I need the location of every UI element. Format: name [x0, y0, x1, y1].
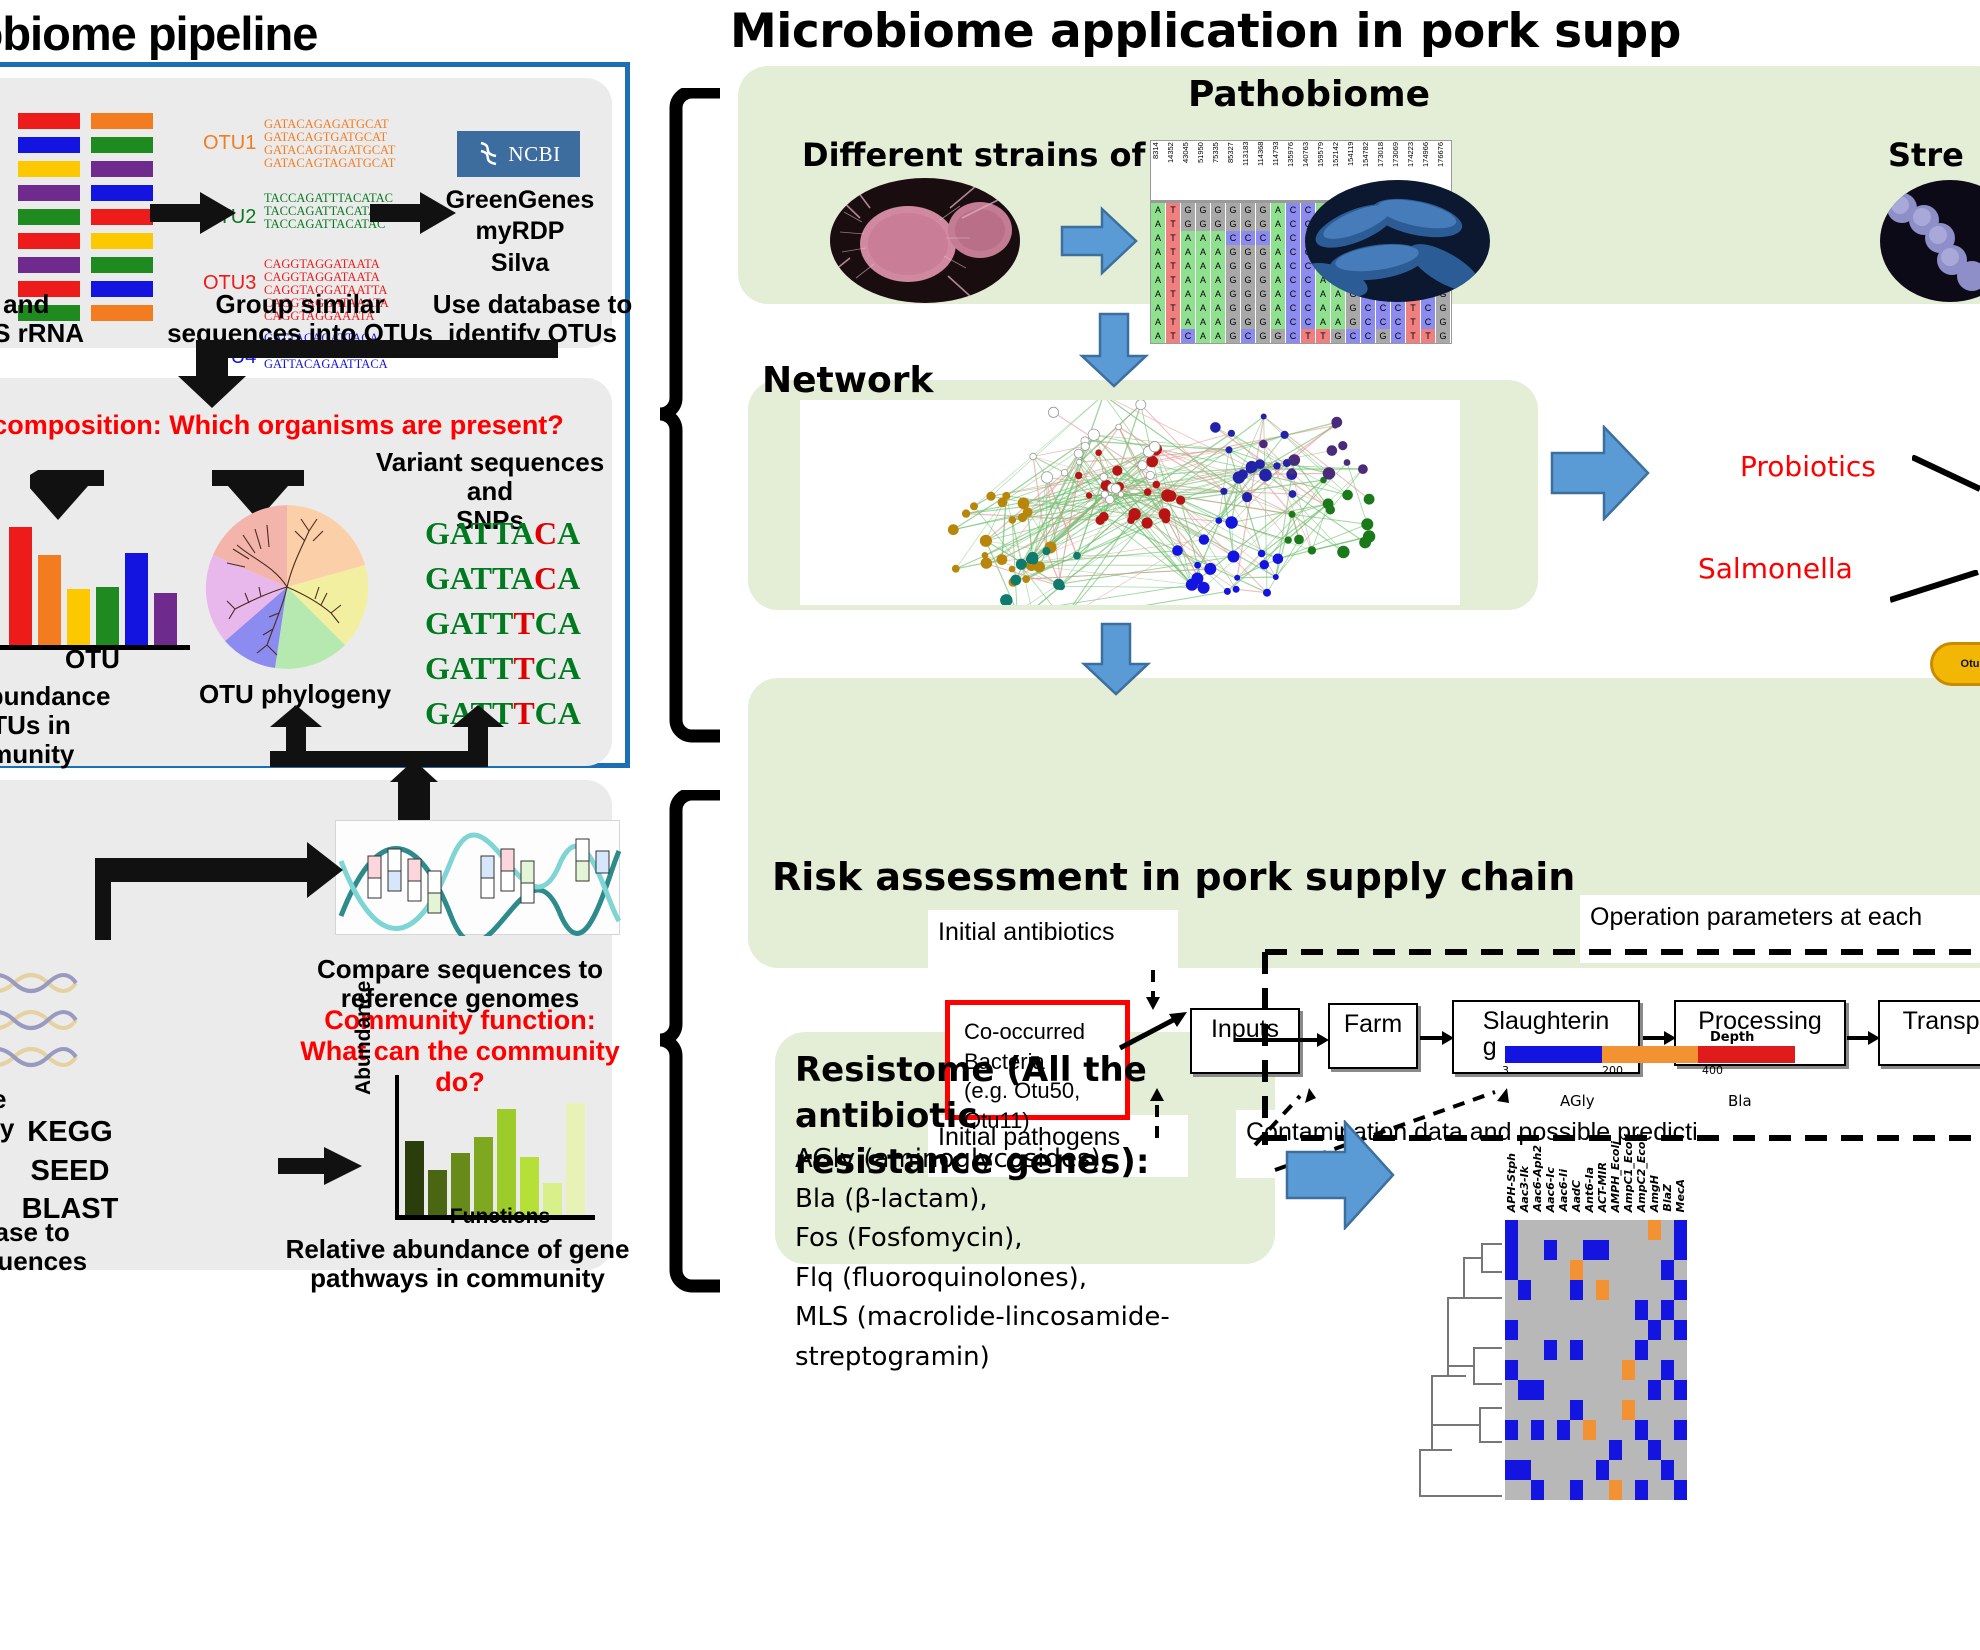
database-myrdp: myRDP	[440, 216, 600, 247]
snp-cell: T	[1316, 329, 1331, 343]
heatmap-cell	[1648, 1320, 1661, 1340]
color-bar	[18, 113, 80, 129]
gene-label: AMPH_Ecoli	[1609, 1141, 1622, 1212]
ecoli-image	[1305, 180, 1490, 302]
heatmap-cell	[1505, 1320, 1518, 1340]
risk-header: Risk assessment in pork supply chain	[772, 855, 1575, 899]
snp-cell: C	[1301, 315, 1316, 329]
snp-cell: C	[1361, 315, 1376, 329]
snp-cell: A	[1211, 287, 1226, 301]
salmonella-connector	[1890, 570, 1980, 610]
snp-cell: A	[1211, 259, 1226, 273]
heatmap-cell	[1622, 1320, 1635, 1340]
heatmap-cell	[1570, 1420, 1583, 1440]
ncbi-helix-icon	[476, 139, 502, 169]
heatmap-cell	[1570, 1360, 1583, 1380]
heatmap-cell	[1622, 1340, 1635, 1360]
heatmap-cell	[1557, 1400, 1570, 1420]
snp-cell: G	[1331, 329, 1346, 343]
snp-cell: G	[1256, 301, 1271, 315]
heatmap-cell	[1648, 1420, 1661, 1440]
heatmap-cell	[1583, 1320, 1596, 1340]
snp-cell: G	[1241, 315, 1256, 329]
heatmap-cell	[1596, 1460, 1609, 1480]
heatmap-cell	[1674, 1400, 1687, 1420]
snp-cell: G	[1256, 259, 1271, 273]
gene-label: Aac6-Ii	[1557, 1169, 1570, 1212]
heatmap-cell	[1609, 1420, 1622, 1440]
snp-cell: T	[1166, 287, 1181, 301]
snp-cell: A	[1151, 217, 1166, 231]
heatmap-cell	[1531, 1420, 1544, 1440]
snp-cell: G	[1256, 245, 1271, 259]
snp-cell: C	[1286, 287, 1301, 301]
snp-cell: C	[1376, 315, 1391, 329]
snp-cell: A	[1196, 329, 1211, 343]
heatmap-colorbar	[1505, 1046, 1795, 1063]
heatmap-cell	[1544, 1220, 1557, 1240]
gene-label: BlaZ	[1661, 1184, 1674, 1212]
snp-cell: T	[1166, 245, 1181, 259]
heatmap-cell	[1544, 1240, 1557, 1260]
heatmap-cell	[1557, 1320, 1570, 1340]
heatmap-cell	[1674, 1340, 1687, 1360]
snp-cell: C	[1286, 329, 1301, 343]
snp-cell: A	[1151, 273, 1166, 287]
heatmap-cell	[1557, 1380, 1570, 1400]
snp-cell: A	[1271, 231, 1286, 245]
heatmap-cell	[1570, 1340, 1583, 1360]
variant-sequence: GATTACA	[425, 515, 580, 552]
heatmap-cell	[1583, 1380, 1596, 1400]
heatmap-cell	[1622, 1380, 1635, 1400]
heatmap-cell	[1635, 1460, 1648, 1480]
abundance-bar	[67, 589, 90, 645]
snp-cell: T	[1166, 329, 1181, 343]
snp-cell: A	[1151, 231, 1166, 245]
heatmap-cell	[1596, 1420, 1609, 1440]
heatmap-cell	[1544, 1440, 1557, 1460]
snp-base: GATTA	[425, 515, 534, 551]
snp-cell: A	[1211, 231, 1226, 245]
heatmap-cell	[1583, 1400, 1596, 1420]
dna-strands-icon	[0, 965, 80, 1070]
heatmap-cell	[1531, 1220, 1544, 1240]
heatmap-legend-ticks: 3200400	[1502, 1064, 1802, 1077]
network-header: Network	[762, 360, 933, 401]
snp-variant-base: C	[534, 515, 557, 551]
snp-cell: G	[1211, 203, 1226, 217]
resistome-heatmap: Depth 3200400 AGly Bla APH-StphAac3-IkAa…	[1410, 1030, 1980, 1650]
heatmap-cell	[1583, 1360, 1596, 1380]
color-bar	[91, 137, 153, 153]
db-identify-caption: Use database to identify sequences	[0, 1218, 135, 1276]
ncbi-text: NCBI	[508, 142, 560, 167]
arrow-elbow-right	[95, 840, 345, 940]
heatmap-cell	[1531, 1340, 1544, 1360]
heatmap-cell	[1518, 1260, 1531, 1280]
heatmap-cell	[1661, 1220, 1674, 1240]
heatmap-cell	[1596, 1320, 1609, 1340]
heatmap-cell	[1674, 1440, 1687, 1460]
color-bar	[91, 209, 153, 225]
snp-cell: A	[1151, 329, 1166, 343]
snp-cell: G	[1346, 315, 1361, 329]
snp-cell: A	[1211, 315, 1226, 329]
snp-cell: T	[1301, 329, 1316, 343]
heatmap-cell	[1609, 1380, 1622, 1400]
heatmap-cell	[1518, 1400, 1531, 1420]
snp-cell: C	[1286, 217, 1301, 231]
heatmap-cell	[1557, 1280, 1570, 1300]
snp-column-position: 114793	[1271, 141, 1286, 200]
seed-label: SEED	[0, 1152, 180, 1191]
color-bar	[18, 137, 80, 153]
heatmap-cell	[1609, 1340, 1622, 1360]
heatmap-cell	[1661, 1400, 1674, 1420]
snp-cell: G	[1241, 259, 1256, 273]
gene-pathways-caption: Relative abundance of gene pathways in c…	[285, 1235, 630, 1293]
abundance-bar	[154, 593, 177, 645]
snp-cell: A	[1181, 231, 1196, 245]
heatmap-cell	[1674, 1380, 1687, 1400]
snp-cell: C	[1286, 245, 1301, 259]
snp-cell: T	[1406, 329, 1421, 343]
colorbar-segment	[1698, 1046, 1795, 1063]
heatmap-cell	[1622, 1240, 1635, 1260]
heatmap-cell	[1635, 1280, 1648, 1300]
database-silva: Silva	[440, 248, 600, 279]
gene-label: MecA	[1674, 1179, 1687, 1212]
heatmap-cell	[1583, 1260, 1596, 1280]
heatmap-cell	[1674, 1420, 1687, 1440]
heatmap-cell	[1661, 1360, 1674, 1380]
snp-cell: T	[1166, 301, 1181, 315]
snp-cell: G	[1226, 329, 1241, 343]
snp-column-position: 85327	[1226, 141, 1241, 200]
snp-row: ATCAAGCGGCTTGCCGCTTG	[1151, 329, 1451, 343]
snp-cell: G	[1226, 245, 1241, 259]
heatmap-cell	[1622, 1400, 1635, 1420]
arrow-right-1	[150, 190, 240, 236]
heatmap-cell	[1505, 1440, 1518, 1460]
snp-cell: G	[1256, 273, 1271, 287]
heatmap-cell	[1557, 1460, 1570, 1480]
phylogeny-circle	[205, 505, 370, 670]
heatmap-cell	[1609, 1360, 1622, 1380]
snp-cell: A	[1271, 287, 1286, 301]
snp-variant-base: T	[513, 695, 534, 731]
heatmap-cell	[1570, 1260, 1583, 1280]
heatmap-cell	[1635, 1320, 1648, 1340]
resistome-item: Flq (fluoroquinolones),	[795, 1259, 1315, 1299]
blue-arrow-to-heatmap	[1285, 1120, 1395, 1230]
snp-variant-base: T	[513, 605, 534, 641]
gene-label: AmpC2_Ecoli	[1635, 1134, 1648, 1212]
snp-cell: A	[1211, 273, 1226, 287]
snp-cell: G	[1241, 217, 1256, 231]
snp-column-position: 114368	[1256, 141, 1271, 200]
snp-cell: A	[1271, 245, 1286, 259]
heatmap-cell	[1505, 1280, 1518, 1300]
heatmap-cell	[1518, 1360, 1531, 1380]
heatmap-cell	[1557, 1440, 1570, 1460]
snp-base: A	[557, 515, 580, 551]
snp-cell: C	[1241, 231, 1256, 245]
heatmap-group-bla: Bla	[1728, 1092, 1752, 1110]
ncbi-logo-top: NCBI	[457, 131, 580, 177]
heatmap-cell	[1531, 1400, 1544, 1420]
heatmap-cell	[1570, 1400, 1583, 1420]
heatmap-cell	[1570, 1480, 1583, 1500]
otu-label: OTU1	[203, 132, 256, 155]
heatmap-cell	[1557, 1420, 1570, 1440]
heatmap-cell	[1518, 1420, 1531, 1440]
snp-cell: A	[1151, 301, 1166, 315]
arrow-up-center	[390, 760, 438, 822]
gene-label: AadC	[1570, 1180, 1583, 1212]
snp-variant-base: C	[534, 560, 557, 596]
snp-cell: G	[1241, 273, 1256, 287]
snp-cell: A	[1316, 315, 1331, 329]
snp-column-position: 113183	[1241, 141, 1256, 200]
heatmap-cell	[1557, 1340, 1570, 1360]
snp-cell: T	[1406, 301, 1421, 315]
heatmap-cell	[1635, 1440, 1648, 1460]
heatmap-cell	[1596, 1400, 1609, 1420]
heatmap-cell	[1648, 1260, 1661, 1280]
snp-base: GATT	[425, 650, 513, 686]
snp-cell: C	[1286, 231, 1301, 245]
arrow-merge-up	[262, 705, 512, 770]
heatmap-cell	[1518, 1220, 1531, 1240]
heatmap-cell	[1674, 1320, 1687, 1340]
snp-cell: G	[1376, 329, 1391, 343]
heatmap-cell	[1648, 1360, 1661, 1380]
heatmap-cell	[1505, 1340, 1518, 1360]
abundance-bar	[38, 555, 61, 645]
resistome-item: AGly (aminoglycosides),	[795, 1140, 1315, 1180]
functions-bar-chart	[395, 1075, 595, 1220]
heatmap-cell	[1609, 1300, 1622, 1320]
color-bar	[18, 257, 80, 273]
snp-cell: C	[1226, 231, 1241, 245]
heatmap-cell	[1622, 1300, 1635, 1320]
heatmap-cell	[1505, 1380, 1518, 1400]
color-bar	[91, 113, 153, 129]
snp-cell: A	[1196, 287, 1211, 301]
heatmap-cell	[1557, 1260, 1570, 1280]
heatmap-cell	[1544, 1260, 1557, 1280]
snp-cell: A	[1151, 259, 1166, 273]
heatmap-cell	[1661, 1480, 1674, 1500]
caption-amplify: Amplify and quence 16S rRNA	[0, 290, 120, 348]
kegg-seed-blast: KEGG SEED BLAST	[0, 1113, 180, 1229]
heatmap-cell	[1648, 1240, 1661, 1260]
snp-column-position: 51950	[1196, 141, 1211, 200]
kegg-label: KEGG	[0, 1113, 180, 1152]
snp-cell: G	[1241, 203, 1256, 217]
heatmap-cell	[1583, 1460, 1596, 1480]
gene-label: Aac6-Ic	[1544, 1167, 1557, 1212]
snp-cell: G	[1211, 217, 1226, 231]
heatmap-group-agly: AGly	[1560, 1092, 1595, 1110]
snp-cell: A	[1271, 217, 1286, 231]
snp-cell: A	[1151, 315, 1166, 329]
snp-cell: T	[1166, 217, 1181, 231]
probiotics-connector	[1912, 455, 1980, 495]
heatmap-cell	[1661, 1440, 1674, 1460]
snp-cell: C	[1391, 315, 1406, 329]
abundance-caption: lative abundance of OTUs in community	[0, 682, 190, 769]
resistome-list: AGly (aminoglycosides),Bla (β-lactam),Fo…	[795, 1140, 1315, 1377]
color-bar	[18, 209, 80, 225]
snp-cell: C	[1301, 301, 1316, 315]
heatmap-cell	[1622, 1440, 1635, 1460]
variant-sequence: GATTTCA	[425, 650, 581, 687]
heatmap-cell	[1648, 1460, 1661, 1480]
heatmap-cell	[1505, 1460, 1518, 1480]
heatmap-cell	[1531, 1480, 1544, 1500]
color-bar	[18, 185, 80, 201]
colorbar-tick: 3	[1502, 1064, 1602, 1077]
snp-cell: G	[1226, 287, 1241, 301]
heatmap-cell	[1674, 1360, 1687, 1380]
color-bar-row	[18, 257, 198, 273]
heatmap-cell	[1674, 1220, 1687, 1240]
heatmap-cell	[1596, 1220, 1609, 1240]
database-list: GreenGenes myRDP Silva	[440, 185, 600, 279]
snp-cell: C	[1286, 203, 1301, 217]
arrow-right-functions	[278, 1145, 364, 1187]
color-bar	[18, 161, 80, 177]
snp-column-position: 75335	[1211, 141, 1226, 200]
snp-cell: G	[1196, 217, 1211, 231]
heatmap-cell	[1570, 1460, 1583, 1480]
snp-cell: C	[1376, 301, 1391, 315]
snp-cell: C	[1256, 231, 1271, 245]
heatmap-cell	[1648, 1380, 1661, 1400]
function-bar	[405, 1141, 424, 1215]
snp-cell: T	[1421, 329, 1436, 343]
heatmap-cell	[1531, 1300, 1544, 1320]
colorbar-tick: 200	[1602, 1064, 1702, 1077]
heatmap-cell	[1544, 1400, 1557, 1420]
heatmap-cell	[1596, 1280, 1609, 1300]
heatmap-cell	[1661, 1260, 1674, 1280]
snp-cell: A	[1196, 245, 1211, 259]
function-bar	[497, 1109, 516, 1215]
heatmap-cell	[1596, 1440, 1609, 1460]
snp-cell: A	[1271, 273, 1286, 287]
snp-cell: A	[1196, 231, 1211, 245]
abundance-bar-chart	[0, 520, 190, 650]
snp-cell: G	[1436, 301, 1451, 315]
brace-bottom	[660, 790, 720, 1310]
snp-cell: C	[1346, 329, 1361, 343]
snp-cell: C	[1361, 301, 1376, 315]
gene-label: AmgH	[1648, 1175, 1661, 1212]
heatmap-cell	[1531, 1380, 1544, 1400]
heatmap-cell	[1557, 1240, 1570, 1260]
blue-arrow-to-snp	[1060, 205, 1140, 277]
heatmap-cell	[1596, 1480, 1609, 1500]
gene-label: AmpC1_Ecoli	[1622, 1134, 1635, 1212]
heatmap-cell	[1505, 1400, 1518, 1420]
heatmap-cell	[1531, 1260, 1544, 1280]
snp-cell: C	[1286, 273, 1301, 287]
gene-label: ACT-MIR	[1596, 1162, 1609, 1212]
variant-sequence: GATTTCA	[425, 605, 581, 642]
snp-cell: C	[1391, 329, 1406, 343]
arrow-elbow-down-1	[160, 340, 560, 410]
heatmap-cell	[1583, 1340, 1596, 1360]
snp-cell: T	[1166, 273, 1181, 287]
snp-cell: G	[1226, 259, 1241, 273]
snp-cell: C	[1421, 301, 1436, 315]
heatmap-cell	[1648, 1400, 1661, 1420]
heatmap-cell	[1544, 1420, 1557, 1440]
abundance-bar	[96, 587, 119, 645]
heatmap-cell	[1609, 1460, 1622, 1480]
heatmap-cell	[1518, 1320, 1531, 1340]
snp-cell: C	[1181, 329, 1196, 343]
color-bar	[91, 185, 153, 201]
snp-cell: G	[1226, 273, 1241, 287]
heatmap-cell	[1505, 1480, 1518, 1500]
snp-column-position: 43045	[1181, 141, 1196, 200]
heatmap-cell	[1531, 1240, 1544, 1260]
heatmap-cell	[1622, 1360, 1635, 1380]
color-bar-row	[18, 137, 198, 153]
heatmap-cell	[1518, 1280, 1531, 1300]
pathobiome-header: Pathobiome	[1188, 74, 1430, 115]
snp-cell: A	[1181, 259, 1196, 273]
snp-cell: C	[1286, 315, 1301, 329]
heatmap-cell	[1518, 1460, 1531, 1480]
heatmap-cell	[1661, 1320, 1674, 1340]
heatmap-cell	[1518, 1480, 1531, 1500]
snp-cell: G	[1226, 217, 1241, 231]
snp-cell: G	[1196, 203, 1211, 217]
heatmap-cell	[1583, 1480, 1596, 1500]
snp-cell: A	[1331, 301, 1346, 315]
heatmap-cell	[1544, 1380, 1557, 1400]
heatmap-cell	[1622, 1420, 1635, 1440]
heatmap-cell	[1544, 1320, 1557, 1340]
heatmap-cell	[1596, 1380, 1609, 1400]
abundance-axis-label: OTU	[0, 645, 190, 674]
heatmap-cell	[1648, 1480, 1661, 1500]
heatmap-cell	[1674, 1260, 1687, 1280]
heatmap-cell	[1609, 1220, 1622, 1240]
heatmap-cell	[1609, 1320, 1622, 1340]
heatmap-cell	[1661, 1340, 1674, 1360]
database-greengenes: GreenGenes	[440, 185, 600, 216]
resistome-item: Bla (β-lactam),	[795, 1180, 1315, 1220]
probiotics-label: Probiotics	[1740, 450, 1876, 483]
colorbar-segment	[1505, 1046, 1602, 1063]
heatmap-cell	[1635, 1480, 1648, 1500]
snp-cell: G	[1241, 301, 1256, 315]
color-bar-row	[18, 113, 198, 129]
blue-arrow-to-network	[1078, 312, 1150, 388]
heatmap-cell	[1661, 1240, 1674, 1260]
snp-cell: G	[1181, 203, 1196, 217]
snp-cell: G	[1181, 217, 1196, 231]
snp-cell: C	[1241, 329, 1256, 343]
snp-cell: A	[1196, 315, 1211, 329]
